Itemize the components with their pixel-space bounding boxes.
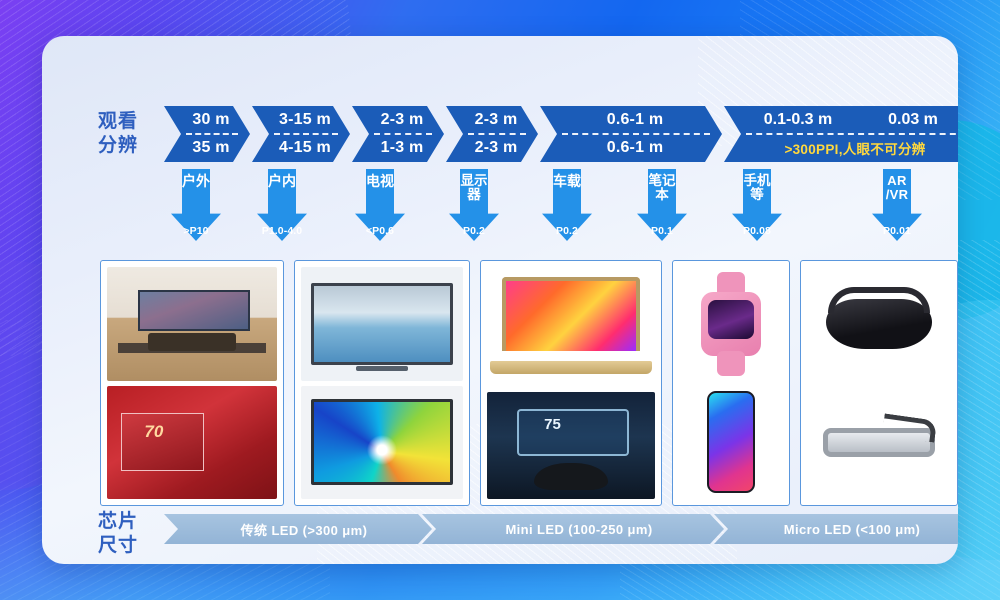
chip-size-label: 芯片 尺寸 xyxy=(98,510,138,559)
application-name-mobile: 手机等 xyxy=(742,174,772,202)
distance-monitor-bottom: 2-3 m xyxy=(446,134,538,162)
distance-chevron-tv: 2-3 m 1-3 m xyxy=(352,106,444,162)
viewing-distance-label: 观看 分辨 xyxy=(98,110,138,159)
watch-body xyxy=(701,292,761,356)
glasses-temple-arm xyxy=(882,413,938,442)
pitch-monitor: P0.2 xyxy=(429,225,519,237)
panel-monitor: 75 xyxy=(480,260,662,506)
application-name-laptop: 笔记本 xyxy=(647,174,677,202)
phone-body xyxy=(707,391,755,493)
distance-chevron-vehicle-laptop: 0.6-1 m 0.6-1 m xyxy=(540,106,722,162)
pitch-laptop: P0.1 xyxy=(617,225,707,237)
pitch-vehicle: P0.2 xyxy=(522,225,612,237)
photo-conference-room-led-wall xyxy=(107,267,277,381)
distance-indoor-top: 3-15 m xyxy=(252,106,350,134)
panel-tv xyxy=(294,260,470,506)
distance-tv-top: 2-3 m xyxy=(352,106,444,134)
distance-outdoor-bottom: 35 m xyxy=(164,134,250,162)
chip-size-mini: Mini LED (100-250 μm) xyxy=(422,514,724,544)
distance-tv-bottom: 1-3 m xyxy=(352,134,444,162)
application-name-arvr: AR /VR xyxy=(875,174,919,201)
glasses-frame xyxy=(823,428,935,458)
photo-car-hud-display: 75 xyxy=(487,392,655,499)
viewing-distance-label-line1: 观看 xyxy=(98,110,138,134)
distance-outdoor-top: 30 m xyxy=(164,106,250,134)
photo-ar-smart-glasses xyxy=(807,386,951,500)
distance-mobile-top: 0.1-0.3 m xyxy=(738,106,858,134)
ppi-note: >300PPI,人眼不可分辨 xyxy=(724,134,958,162)
laptop-screen xyxy=(502,277,640,352)
chip-size-label-line1: 芯片 xyxy=(98,510,138,534)
photo-kids-smartwatch xyxy=(679,267,783,381)
application-name-tv: 电视 xyxy=(365,174,395,189)
photo-outdoor-billboard-led xyxy=(107,386,277,500)
application-name-monitor: 显示器 xyxy=(459,174,489,202)
pitch-outdoor: >P10 xyxy=(151,225,241,237)
pitch-arvr: P0.01 xyxy=(852,225,942,237)
viewing-distance-band: 30 m 35 m 3-15 m 4-15 m 2-3 m 1-3 m 2-3 … xyxy=(164,106,958,162)
infographic-card: 观看 分辨 芯片 尺寸 30 m 35 m 3-15 m 4-15 m 2-3 … xyxy=(42,36,958,564)
chip-size-band: 传统 LED (>300 μm) Mini LED (100-250 μm) M… xyxy=(164,514,958,544)
application-name-indoor: 户内 xyxy=(267,174,297,189)
photo-flat-tv-sky-scene xyxy=(301,267,463,381)
tv-screen xyxy=(311,399,454,485)
distance-chevron-mobile-arvr: 0.1-0.3 m 0.03 m >300PPI,人眼不可分辨 xyxy=(724,106,958,162)
vr-head-strap xyxy=(828,287,930,313)
distance-vehicle-laptop-top: 0.6-1 m xyxy=(540,106,722,134)
tv-screen xyxy=(311,283,454,365)
photo-vr-headset xyxy=(807,267,951,381)
pitch-mobile: P0.08 xyxy=(712,225,802,237)
photo-gold-laptop xyxy=(487,267,655,387)
hud-speed-value: 75 xyxy=(544,416,561,433)
chip-size-traditional: 传统 LED (>300 μm) xyxy=(164,514,432,544)
chip-size-label-line2: 尺寸 xyxy=(98,534,138,558)
distance-indoor-bottom: 4-15 m xyxy=(252,134,350,162)
distance-arvr-top: 0.03 m xyxy=(858,106,958,134)
chip-size-micro: Micro LED (<100 μm) xyxy=(714,514,958,544)
panel-arvr xyxy=(800,260,958,506)
pitch-tv: <P0.6 xyxy=(335,225,425,237)
application-name-vehicle: 车载 xyxy=(552,174,582,189)
distance-monitor-top: 2-3 m xyxy=(446,106,538,134)
panel-mobile xyxy=(672,260,790,506)
laptop-keyboard xyxy=(490,361,651,374)
photo-gradient-smartphone xyxy=(679,386,783,500)
photo-curved-tv-color-burst xyxy=(301,386,463,500)
panel-outdoor xyxy=(100,260,284,506)
distance-chevron-outdoor: 30 m 35 m xyxy=(164,106,250,162)
tv-stand xyxy=(356,366,408,371)
viewing-distance-label-line2: 分辨 xyxy=(98,134,138,158)
distance-vehicle-laptop-bottom: 0.6-1 m xyxy=(540,134,722,162)
watch-strap-bottom xyxy=(717,351,744,376)
application-name-outdoor: 户外 xyxy=(181,174,211,189)
distance-chevron-indoor: 3-15 m 4-15 m xyxy=(252,106,350,162)
vr-goggle-body xyxy=(826,299,933,349)
distance-chevron-monitor: 2-3 m 2-3 m xyxy=(446,106,538,162)
pitch-indoor: P1.0-4.0 xyxy=(237,225,327,237)
